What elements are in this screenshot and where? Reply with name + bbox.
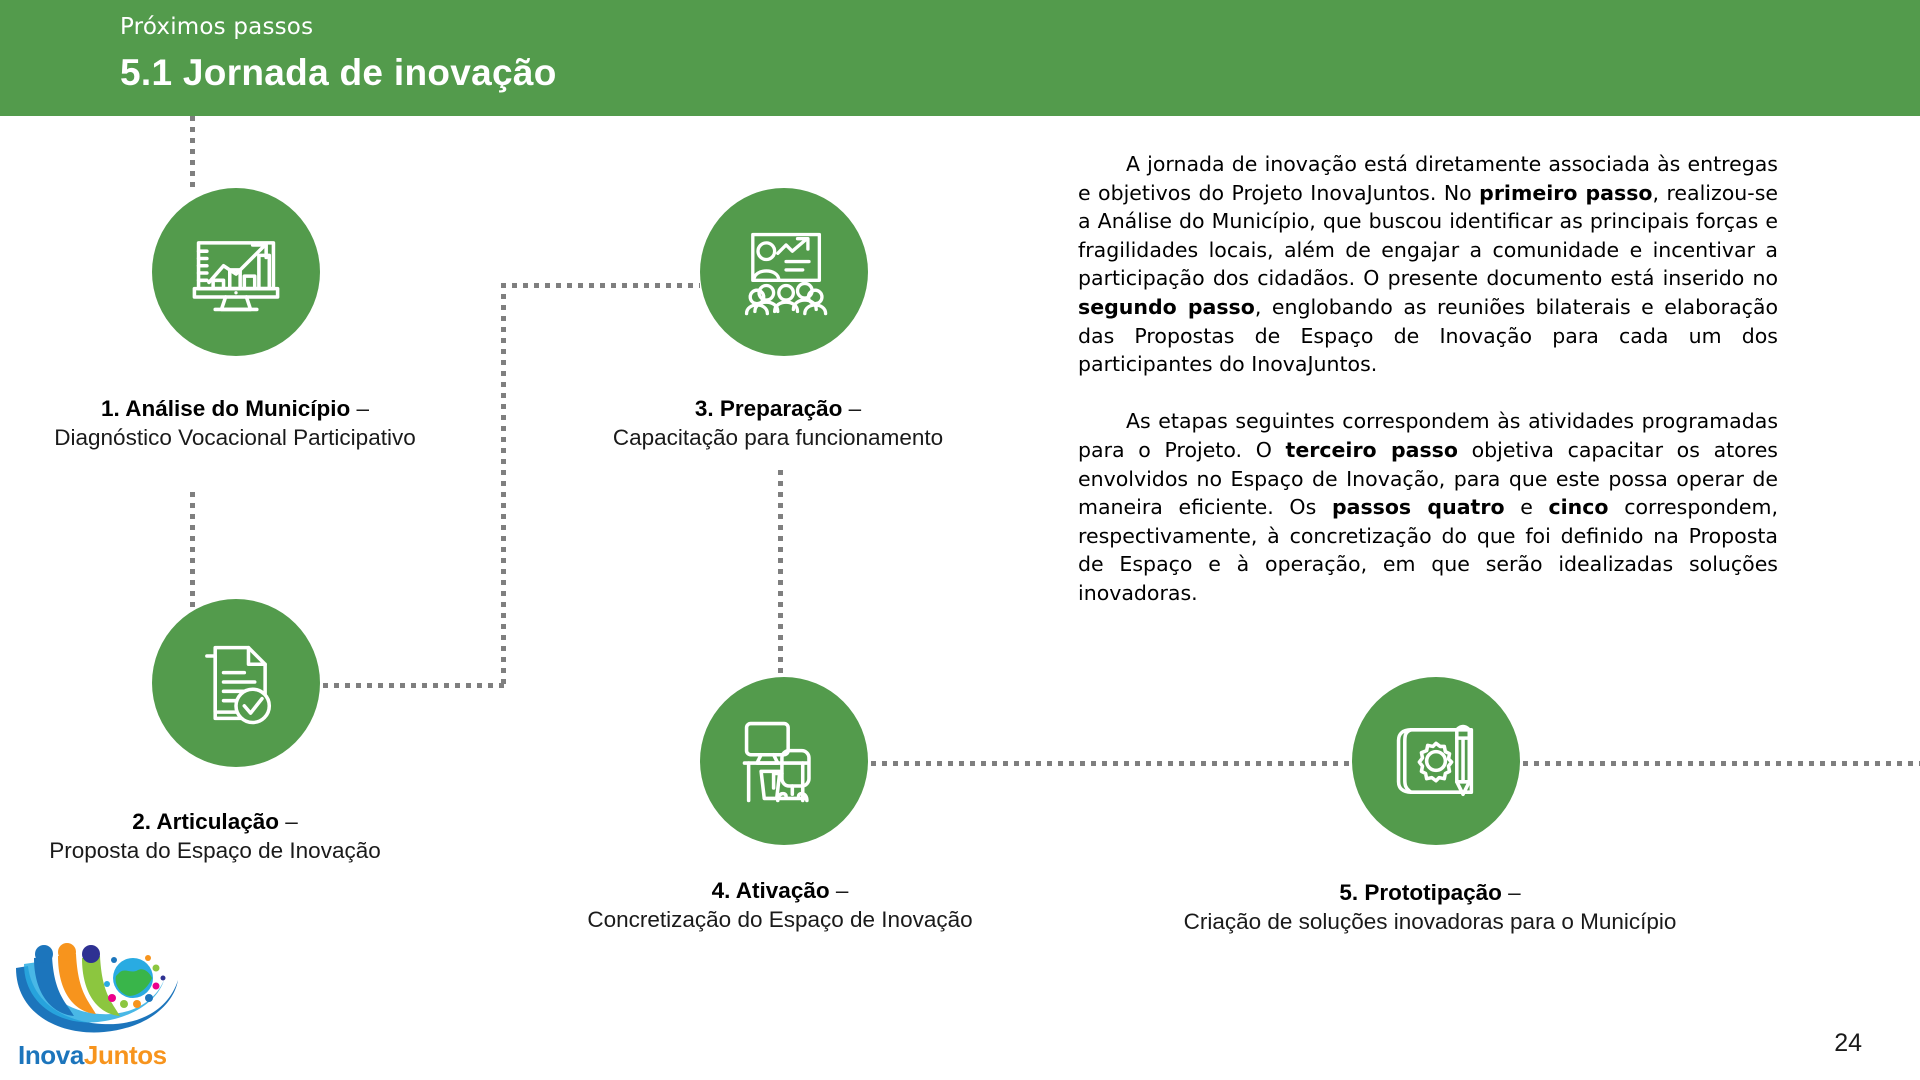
slide-canvas: Próximos passos 5.1 Jornada de inovação [0, 0, 1920, 1080]
step-2-caption: 2. Articulação – Proposta do Espaço de I… [0, 807, 470, 866]
step-5-dash: – [1502, 880, 1521, 905]
connector-top-to-step1 [190, 116, 195, 188]
step-3-caption: 3. Preparação – Capacitação para funcion… [560, 394, 996, 453]
step-5-caption: 5. Prototipação – Criação de soluções in… [1180, 878, 1680, 937]
connector-riser-step2-step3 [501, 283, 506, 688]
connector-step4-to-step5 [860, 761, 1352, 766]
step-2-dash: – [279, 809, 298, 834]
step-3-subtitle: Capacitação para funcionamento [560, 423, 996, 452]
step-5-title: 5. Prototipação [1339, 880, 1502, 905]
header-eyebrow: Próximos passos [120, 14, 313, 40]
step-4-circle [700, 677, 868, 845]
step-2-title: 2. Articulação [132, 809, 279, 834]
page-number: 24 [1834, 1029, 1862, 1058]
step-5-subtitle: Criação de soluções inovadoras para o Mu… [1180, 907, 1680, 936]
connector-into-step3 [501, 283, 700, 288]
inovajuntos-logo-icon [8, 940, 188, 1044]
header-band: Próximos passos 5.1 Jornada de inovação [0, 0, 1920, 116]
step-3-title: 3. Preparação [695, 396, 843, 421]
training-presentation-audience-icon [732, 220, 836, 324]
step-4-title: 4. Ativação [712, 878, 830, 903]
step-node-1[interactable] [152, 188, 320, 356]
step-4-caption: 4. Ativação – Concretização do Espaço de… [530, 876, 1030, 935]
logo: InovaJuntos [8, 940, 188, 1072]
step-4-subtitle: Concretização do Espaço de Inovação [530, 905, 1030, 934]
connector-step3-to-step4 [778, 470, 783, 690]
workstation-desk-chair-icon [732, 709, 836, 813]
step-1-title: 1. Análise do Município [101, 396, 350, 421]
step-node-4[interactable] [700, 677, 868, 845]
step-5-circle [1352, 677, 1520, 845]
body-paragraph-2: As etapas seguintes correspondem às ativ… [1078, 407, 1778, 607]
document-check-icon [184, 631, 288, 735]
step-node-5[interactable] [1352, 677, 1520, 845]
logo-word-inova: Inova [18, 1040, 84, 1070]
step-2-subtitle: Proposta do Espaço de Inovação [0, 836, 470, 865]
logo-word-juntos: Juntos [84, 1040, 167, 1070]
step-3-circle [700, 188, 868, 356]
step-2-circle [152, 599, 320, 767]
page-title: 5.1 Jornada de inovação [120, 52, 557, 94]
step-1-subtitle: Diagnóstico Vocacional Participativo [0, 423, 470, 452]
blueprint-gear-pencil-icon [1384, 709, 1488, 813]
body-paragraph-1: A jornada de inovação está diretamente a… [1078, 150, 1778, 379]
step-1-caption: 1. Análise do Município – Diagnóstico Vo… [0, 394, 470, 453]
step-node-2[interactable] [152, 599, 320, 767]
step-node-3[interactable] [700, 188, 868, 356]
connector-step1-to-step2 [190, 492, 195, 612]
logo-wordmark: InovaJuntos [18, 1040, 167, 1071]
step-4-dash: – [830, 878, 849, 903]
monitor-bar-chart-growth-icon [184, 220, 288, 324]
step-1-circle [152, 188, 320, 356]
connector-step5-right [1512, 761, 1920, 766]
body-text-block: A jornada de inovação está diretamente a… [1078, 150, 1778, 608]
step-1-dash: – [350, 396, 369, 421]
step-3-dash: – [842, 396, 861, 421]
